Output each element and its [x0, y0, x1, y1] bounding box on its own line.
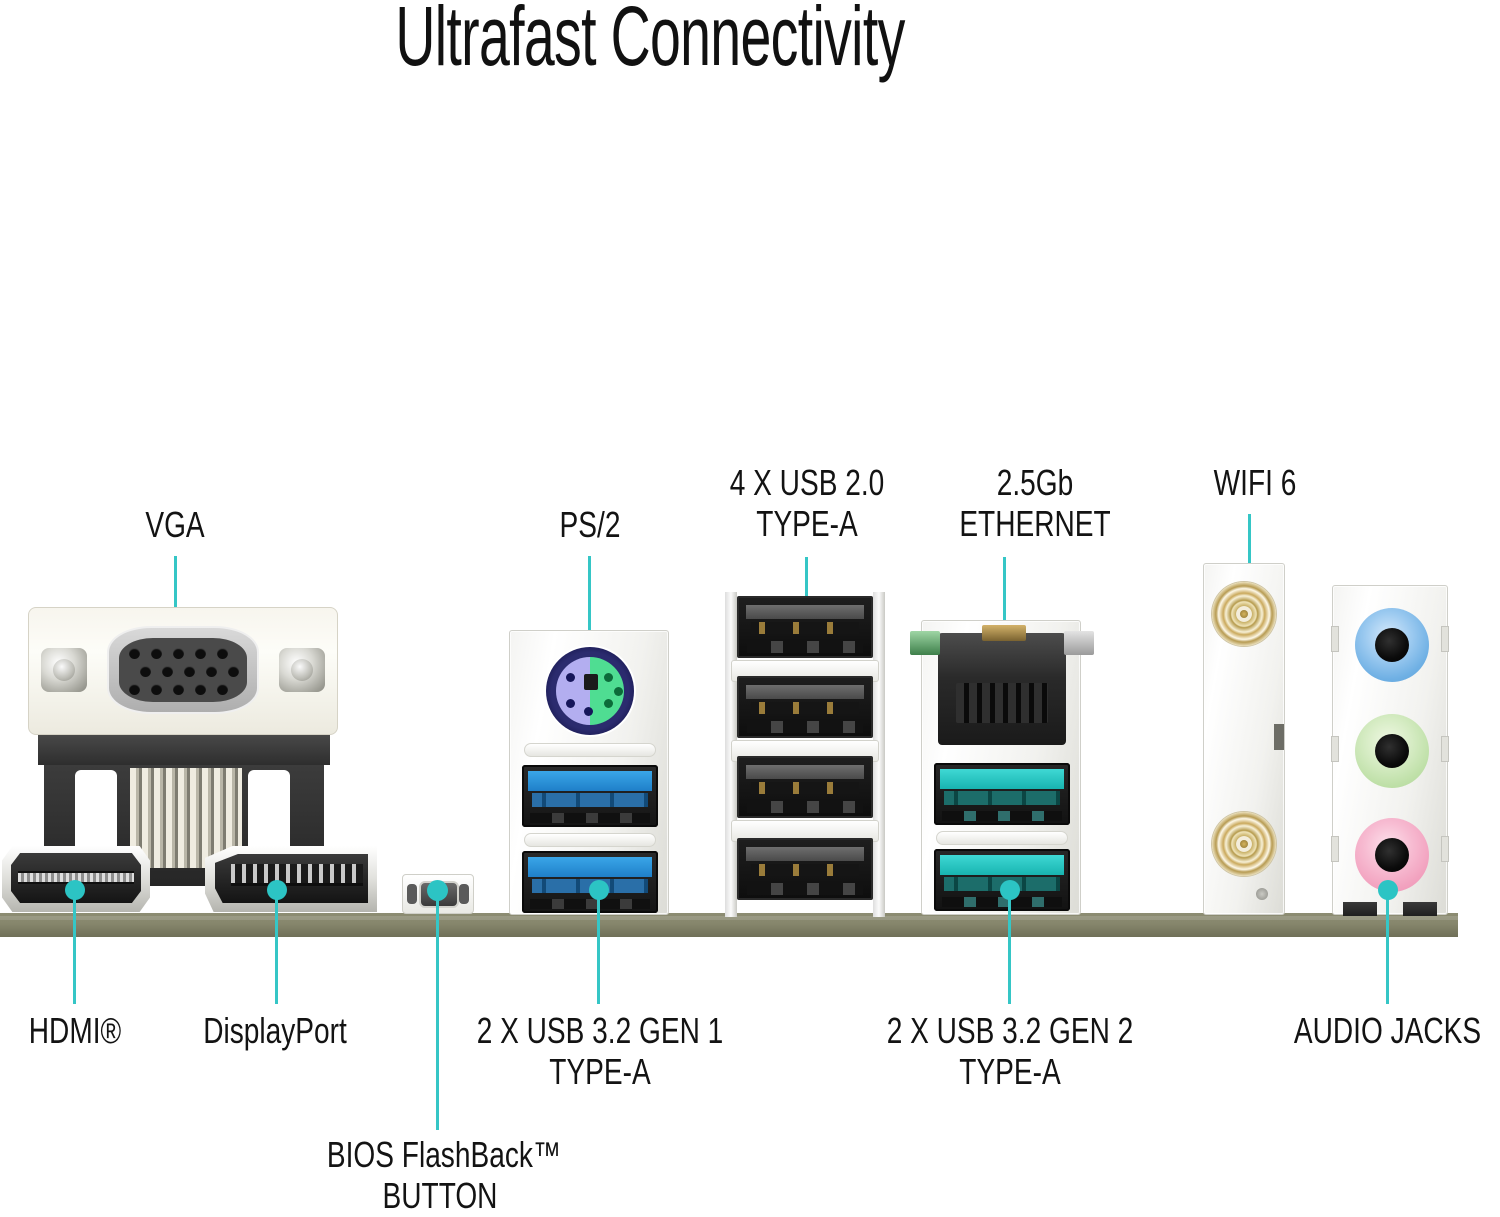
label-ethernet: 2.5Gb ETHERNET	[930, 462, 1141, 544]
wifi6-antenna-panel	[1203, 563, 1285, 915]
usb20-port-3[interactable]	[737, 756, 873, 818]
ps2-keyway	[584, 674, 598, 690]
audio-jack-line-in[interactable]	[1355, 608, 1429, 682]
vga-bracket	[38, 733, 330, 765]
usb-shell-feet	[747, 801, 863, 813]
displayport-port[interactable]	[205, 846, 377, 912]
bios-flashback-bezel-left	[407, 884, 417, 904]
usb20-insert	[746, 685, 864, 699]
leader-displayport	[275, 888, 278, 1004]
callout-dot-audio	[1378, 880, 1398, 900]
leader-audio	[1386, 888, 1389, 1004]
rj45-latch	[982, 625, 1026, 641]
usb-teal-insert	[940, 769, 1064, 789]
callout-dot-usb32gen2	[1000, 880, 1020, 900]
ps2-usb31-shield-panel	[509, 630, 669, 915]
label-usb32gen1: 2 X USB 3.2 GEN 1 TYPE-A	[475, 1010, 725, 1092]
leader-bios-flashback	[436, 890, 439, 1130]
audio-jack-hole	[1375, 628, 1409, 662]
label-hdmi: HDMI®	[0, 1010, 173, 1051]
usb20-stack	[731, 592, 879, 917]
usb-shell-feet	[530, 813, 650, 823]
usb-shell-feet	[530, 899, 650, 909]
usb32gen1-port-top[interactable]	[522, 765, 658, 827]
vga-connector-cavity	[119, 638, 247, 702]
wifi-panel-hole	[1256, 888, 1268, 900]
callout-dot-displayport	[267, 880, 287, 900]
ps2-combo-port[interactable]	[546, 647, 634, 735]
audio-jacks-panel	[1332, 585, 1448, 915]
leader-hdmi	[73, 888, 76, 1004]
usb-contacts	[751, 864, 859, 876]
vga-port[interactable]	[28, 607, 338, 735]
callout-dot-usb32gen1	[589, 880, 609, 900]
usb32gen1-port-bottom[interactable]	[522, 851, 658, 913]
usb-shell-feet	[942, 811, 1062, 821]
lan-usb32gen2-shield-panel	[921, 620, 1081, 915]
usb-shell-feet	[747, 721, 863, 733]
vga-connector-shell	[107, 626, 259, 714]
rj45-contacts	[956, 683, 1048, 723]
usb20-insert	[746, 847, 864, 861]
usb-contacts	[532, 793, 648, 807]
label-usb20: 4 X USB 2.0 TYPE-A	[702, 462, 913, 544]
wifi-sma-connector-top[interactable]	[1212, 582, 1276, 646]
usb-contacts	[751, 702, 859, 714]
panel-divider-2	[524, 833, 656, 847]
hdmi-port[interactable]	[2, 846, 150, 912]
callout-dot-bios-flashback	[427, 880, 448, 901]
audio-jack-hole	[1375, 734, 1409, 768]
label-bios-flashback: BIOS FlashBack™ BUTTON	[327, 1134, 553, 1216]
wifi-sma-connector-bottom[interactable]	[1212, 812, 1276, 876]
wifi-panel-notch	[1274, 724, 1284, 750]
rj45-led-link	[1064, 631, 1094, 655]
ethernet-rj45-port[interactable]	[938, 633, 1066, 745]
panel-divider-1	[524, 743, 656, 757]
usb20-port-1[interactable]	[737, 596, 873, 658]
label-displayport: DisplayPort	[178, 1010, 373, 1051]
label-wifi: WIFI 6	[1150, 462, 1361, 503]
usb-blue-insert	[528, 771, 652, 791]
displayport-contacts	[231, 864, 363, 886]
usb-shell-feet	[942, 897, 1062, 907]
callout-dot-hdmi	[65, 880, 85, 900]
page-title: Ultrafast Connectivity	[221, 0, 1079, 82]
usb-shell-feet	[747, 883, 863, 895]
usb-contacts	[751, 782, 859, 794]
usb-shell-feet	[747, 641, 863, 653]
usb-teal-insert	[940, 855, 1064, 875]
vga-screw-left	[41, 648, 87, 692]
bios-flashback-bezel-right	[459, 884, 469, 904]
label-ps2: PS/2	[489, 504, 692, 545]
usb20-port-2[interactable]	[737, 676, 873, 738]
audio-jack-line-out[interactable]	[1355, 714, 1429, 788]
usb20-insert	[746, 605, 864, 619]
usb20-insert	[746, 765, 864, 779]
leader-usb32gen1	[597, 888, 600, 1004]
usb32gen2-port-top[interactable]	[934, 763, 1070, 825]
usb20-port-4[interactable]	[737, 838, 873, 900]
usb-contacts	[751, 622, 859, 634]
usb-contacts	[944, 791, 1060, 805]
audio-jack-hole	[1375, 838, 1409, 872]
label-audio-jacks: AUDIO JACKS	[1284, 1010, 1491, 1051]
leader-usb32gen2	[1008, 888, 1011, 1004]
usb32gen2-port-bottom[interactable]	[934, 849, 1070, 911]
panel-divider-3	[936, 831, 1068, 845]
vga-screw-right	[279, 648, 325, 692]
label-usb32gen2: 2 X USB 3.2 GEN 2 TYPE-A	[885, 1010, 1135, 1092]
rj45-led-activity	[910, 631, 940, 655]
label-vga: VGA	[70, 504, 281, 545]
usb-blue-insert	[528, 857, 652, 877]
